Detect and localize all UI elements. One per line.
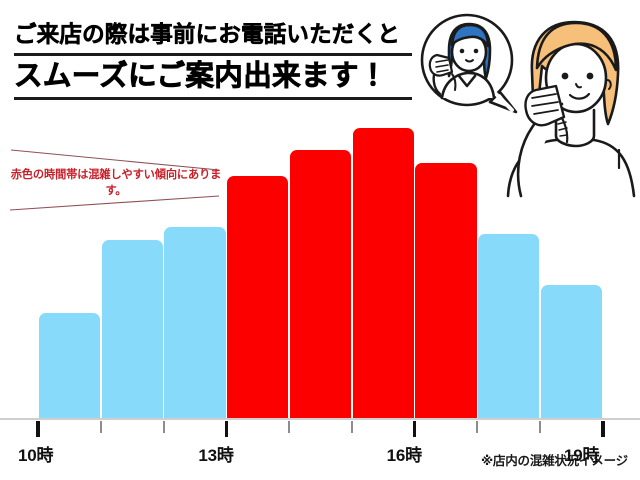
x-tick-5-minor xyxy=(351,421,353,433)
x-tick-label-16時: 16時 xyxy=(387,441,422,466)
bar-14時 xyxy=(290,150,351,419)
x-tick-2-minor xyxy=(163,421,165,433)
x-tick-label-10時: 10時 xyxy=(18,441,53,466)
annotation-text: 赤色の時間帯は混雑しやすい傾向にあります。 xyxy=(10,168,222,200)
two-women-phone-call-illustration xyxy=(404,0,640,200)
bar-12時 xyxy=(164,227,225,419)
x-tick-label-13時: 13時 xyxy=(198,441,233,466)
bar-18時 xyxy=(541,285,602,419)
bar-13時 xyxy=(227,176,288,419)
illustration-svg xyxy=(404,0,640,200)
front-person xyxy=(508,22,634,196)
headline-line-2: スムーズにご案内出来ます！ xyxy=(14,59,412,94)
bar-16時 xyxy=(415,163,476,419)
x-tick-label-19時: 19時 xyxy=(564,441,599,466)
x-tick-7-minor xyxy=(476,421,478,433)
x-tick-9-major xyxy=(601,421,605,437)
x-tick-1-minor xyxy=(100,421,102,433)
x-tick-3-major xyxy=(225,421,229,437)
headline-divider-bottom xyxy=(14,97,412,100)
x-tick-4-minor xyxy=(288,421,290,433)
bar-17時 xyxy=(478,234,539,419)
x-tick-8-minor xyxy=(539,421,541,433)
bar-10時 xyxy=(39,313,100,419)
headline-block: ご来店の際は事前にお電話いただくと スムーズにご案内出来ます！ xyxy=(14,22,412,100)
x-axis-line xyxy=(0,418,640,420)
busy-hours-annotation: 赤色の時間帯は混雑しやすい傾向にあります。 xyxy=(8,146,222,218)
headline-divider-top xyxy=(14,53,412,56)
x-tick-6-major xyxy=(413,421,417,437)
x-tick-0-major xyxy=(36,421,40,437)
congestion-infographic: ご来店の際は事前にお電話いただくと スムーズにご案内出来ます！ 赤色の時間帯は混… xyxy=(0,0,640,480)
headline-line-1: ご来店の際は事前にお電話いただくと xyxy=(14,22,412,49)
bar-11時 xyxy=(102,240,163,419)
